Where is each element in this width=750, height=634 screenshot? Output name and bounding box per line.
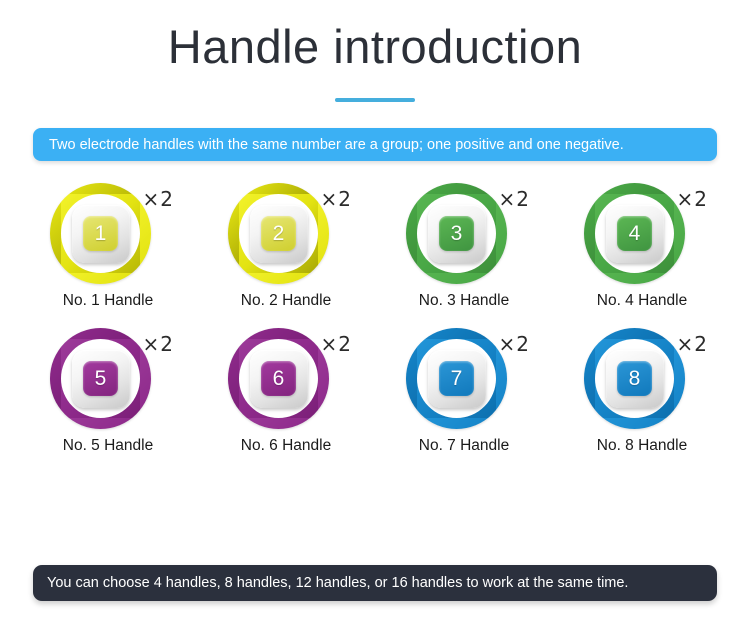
title-underline-accent: [335, 98, 415, 102]
handle-caption: No. 7 Handle: [419, 437, 509, 455]
info-banner-top-text: Two electrode handles with the same numb…: [49, 137, 624, 153]
handle-ring-inner: 3: [417, 194, 496, 273]
handle-quantity-multiplier: ×2: [677, 187, 708, 211]
handle-caption: No. 8 Handle: [597, 437, 687, 455]
handle-item: 6×2No. 6 Handle: [197, 324, 375, 455]
handle-quantity-multiplier: ×2: [321, 187, 352, 211]
handle-item: 2×2No. 2 Handle: [197, 179, 375, 310]
handle-number-key: 1: [83, 216, 118, 251]
handle-item: 5×2No. 5 Handle: [19, 324, 197, 455]
handle-ring-inner: 5: [61, 339, 140, 418]
handle-ring: 7: [406, 328, 507, 429]
handle-ring-inner: 6: [239, 339, 318, 418]
handle-figure: 7×2: [394, 324, 534, 436]
handle-item: 4×2No. 4 Handle: [553, 179, 731, 310]
handle-caption: No. 3 Handle: [419, 292, 509, 310]
handle-item: 8×2No. 8 Handle: [553, 324, 731, 455]
handle-number-key: 5: [83, 361, 118, 396]
handle-ring: 1: [50, 183, 151, 284]
handle-pad: 5: [72, 350, 130, 408]
handle-ring-inner: 2: [239, 194, 318, 273]
info-banner-top: Two electrode handles with the same numb…: [33, 128, 717, 161]
handle-caption: No. 1 Handle: [63, 292, 153, 310]
handle-figure: 8×2: [572, 324, 712, 436]
handle-item: 7×2No. 7 Handle: [375, 324, 553, 455]
handle-ring: 3: [406, 183, 507, 284]
handle-item: 1×2No. 1 Handle: [19, 179, 197, 310]
handle-pad: 8: [606, 350, 664, 408]
slide-root: Handle introduction Two electrode handle…: [0, 0, 750, 455]
handle-figure: 1×2: [38, 179, 178, 291]
info-banner-bottom-text: You can choose 4 handles, 8 handles, 12 …: [47, 575, 628, 591]
handle-figure: 2×2: [216, 179, 356, 291]
handle-pad: 4: [606, 205, 664, 263]
handle-figure: 3×2: [394, 179, 534, 291]
handle-ring: 2: [228, 183, 329, 284]
handle-caption: No. 4 Handle: [597, 292, 687, 310]
handle-number-key: 2: [261, 216, 296, 251]
handle-number-key: 6: [261, 361, 296, 396]
handle-ring-inner: 8: [595, 339, 674, 418]
handle-pad: 7: [428, 350, 486, 408]
handle-grid: 1×2No. 1 Handle2×2No. 2 Handle3×2No. 3 H…: [19, 179, 731, 455]
handle-ring: 8: [584, 328, 685, 429]
handle-caption: No. 6 Handle: [241, 437, 331, 455]
handle-caption: No. 5 Handle: [63, 437, 153, 455]
handle-quantity-multiplier: ×2: [677, 332, 708, 356]
handle-number-key: 3: [439, 216, 474, 251]
handle-ring: 4: [584, 183, 685, 284]
handle-number-key: 7: [439, 361, 474, 396]
info-banner-bottom: You can choose 4 handles, 8 handles, 12 …: [33, 565, 717, 601]
handle-number-key: 8: [617, 361, 652, 396]
handle-ring-inner: 1: [61, 194, 140, 273]
handle-item: 3×2No. 3 Handle: [375, 179, 553, 310]
handle-ring: 5: [50, 328, 151, 429]
handle-pad: 2: [250, 205, 308, 263]
handle-quantity-multiplier: ×2: [499, 332, 530, 356]
handle-ring-inner: 7: [417, 339, 496, 418]
handle-quantity-multiplier: ×2: [143, 187, 174, 211]
handle-pad: 3: [428, 205, 486, 263]
handle-ring-inner: 4: [595, 194, 674, 273]
handle-quantity-multiplier: ×2: [499, 187, 530, 211]
handle-pad: 1: [72, 205, 130, 263]
handle-quantity-multiplier: ×2: [321, 332, 352, 356]
handle-ring: 6: [228, 328, 329, 429]
handle-pad: 6: [250, 350, 308, 408]
handle-figure: 5×2: [38, 324, 178, 436]
handle-number-key: 4: [617, 216, 652, 251]
page-title: Handle introduction: [0, 0, 750, 77]
handle-quantity-multiplier: ×2: [143, 332, 174, 356]
handle-caption: No. 2 Handle: [241, 292, 331, 310]
handle-figure: 6×2: [216, 324, 356, 436]
handle-figure: 4×2: [572, 179, 712, 291]
